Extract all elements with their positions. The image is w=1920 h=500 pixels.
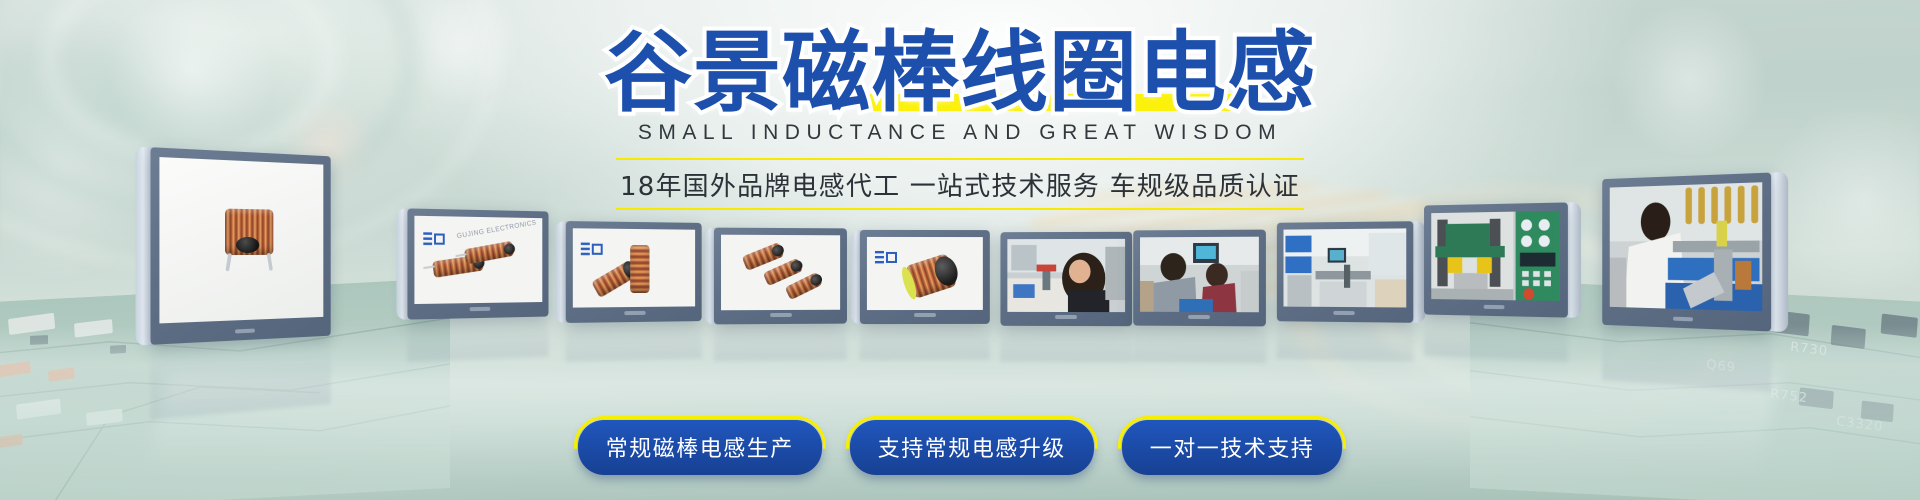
product-display-5[interactable] xyxy=(860,230,990,324)
panel-bezel xyxy=(1000,232,1132,326)
panel-screen xyxy=(867,237,983,310)
panel-screen xyxy=(1431,211,1560,301)
feature-pill-support[interactable]: 一对一技术支持 xyxy=(1122,420,1343,475)
headline-block: 谷景磁棒线圈电感 SMALL INDUCTANCE AND GREAT WISD… xyxy=(0,26,1920,210)
panel-screen: GUJING ELECTRONICS xyxy=(414,216,542,304)
panel-screen xyxy=(1140,237,1259,313)
product-display-2[interactable]: GUJING ELECTRONICS xyxy=(407,208,548,319)
panel-screen xyxy=(1007,239,1125,312)
watermark-logo-icon xyxy=(579,241,605,261)
watermark-logo-icon xyxy=(873,249,899,269)
product-display-4[interactable] xyxy=(714,228,847,325)
watermark-text: GUJING ELECTRONICS xyxy=(457,219,538,240)
panel-bezel xyxy=(1424,202,1568,317)
factory-display-3[interactable] xyxy=(1277,221,1413,323)
panel-bezel xyxy=(566,221,702,323)
subtitle-english: SMALL INDUCTANCE AND GREAT WISDOM xyxy=(0,121,1920,145)
feature-pill-production[interactable]: 常规磁棒电感生产 xyxy=(578,420,822,475)
factory-photo xyxy=(1140,237,1259,313)
title-row: 谷景磁棒线圈电感 xyxy=(604,26,1316,119)
page-title: 谷景磁棒线圈电感 xyxy=(604,26,1316,119)
panel-bezel xyxy=(1277,221,1413,323)
factory-display-4[interactable] xyxy=(1424,202,1568,317)
factory-photo xyxy=(1007,239,1125,312)
panel-screen xyxy=(1283,228,1406,307)
subtitle-chinese-box: 18年国外品牌电感代工 一站式技术服务 车规级品质认证 xyxy=(616,158,1304,210)
panel-screen xyxy=(721,235,840,311)
factory-display-2[interactable] xyxy=(1133,230,1266,327)
panel-screen xyxy=(573,228,695,307)
promotional-banner: R751 R730 Q69 R752 C3320 xyxy=(0,0,1920,500)
factory-display-1[interactable] xyxy=(1000,232,1132,326)
panel-bezel xyxy=(860,230,990,324)
panel-bezel xyxy=(1133,230,1266,327)
panel-bezel xyxy=(714,228,847,325)
product-display-3[interactable] xyxy=(566,221,702,323)
subtitle-chinese: 18年国外品牌电感代工 一站式技术服务 车规级品质认证 xyxy=(620,166,1300,203)
factory-photo xyxy=(1431,211,1560,301)
feature-pill-upgrade[interactable]: 支持常规电感升级 xyxy=(850,420,1094,475)
watermark-logo-icon xyxy=(421,230,446,251)
factory-photo xyxy=(1283,228,1406,307)
panel-bezel: GUJING ELECTRONICS xyxy=(407,208,548,319)
feature-pill-group: 常规磁棒电感生产 支持常规电感升级 一对一技术支持 xyxy=(0,420,1920,475)
